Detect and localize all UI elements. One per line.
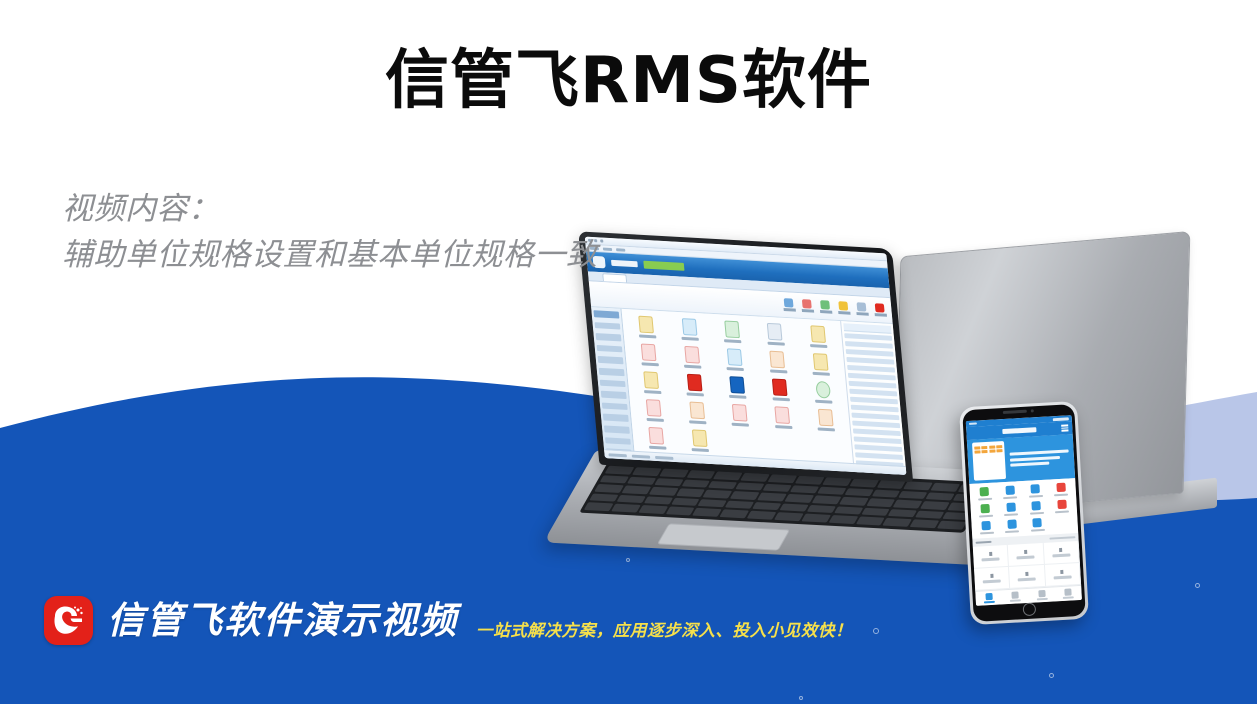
phone-camera-icon bbox=[1031, 409, 1034, 412]
mobile-app-screen bbox=[966, 415, 1082, 606]
module-tile[interactable] bbox=[714, 348, 755, 372]
desktop-app-screen bbox=[585, 237, 907, 475]
sidebar-item[interactable] bbox=[604, 426, 630, 434]
stat-cell bbox=[1043, 541, 1080, 565]
sidebar-item[interactable] bbox=[596, 333, 622, 341]
video-description: 视频内容： 辅助单位规格设置和基本单位规格一致 bbox=[62, 186, 598, 278]
phone-earpiece bbox=[1003, 409, 1034, 414]
quick-panel-item[interactable] bbox=[851, 413, 899, 421]
module-tile[interactable] bbox=[672, 345, 713, 369]
phone-signal-battery-icons bbox=[1053, 417, 1069, 421]
menu-item[interactable] bbox=[616, 248, 625, 251]
mobile-tile[interactable] bbox=[998, 485, 1022, 499]
sidebar-item[interactable] bbox=[594, 322, 620, 330]
phone-carrier-label bbox=[969, 422, 977, 425]
xinguanfei-logo-icon bbox=[44, 596, 93, 645]
quick-panel-item[interactable] bbox=[854, 444, 902, 452]
video-description-line-2: 辅助单位规格设置和基本单位规格一致 bbox=[62, 232, 598, 278]
titlebar-dot bbox=[600, 239, 603, 242]
toolbar-button[interactable] bbox=[783, 298, 795, 312]
decor-bubble bbox=[873, 628, 879, 634]
quick-panel-item[interactable] bbox=[852, 421, 900, 429]
module-tile[interactable] bbox=[626, 315, 667, 339]
app-icon-workspace bbox=[622, 309, 854, 472]
mobile-tile[interactable] bbox=[1050, 499, 1074, 513]
mobile-app-title bbox=[1002, 427, 1036, 434]
toolbar-button[interactable] bbox=[837, 301, 849, 315]
module-tile[interactable] bbox=[629, 343, 670, 367]
sidebar-item[interactable] bbox=[599, 368, 625, 376]
module-tile[interactable] bbox=[631, 371, 672, 395]
stat-cell bbox=[1045, 563, 1082, 587]
toolbar-button[interactable] bbox=[855, 302, 867, 316]
phone-home-button[interactable] bbox=[1023, 602, 1037, 616]
toolbar-button[interactable] bbox=[819, 300, 831, 314]
statusbar-segment bbox=[632, 454, 650, 458]
quick-panel-item[interactable] bbox=[849, 381, 897, 389]
module-tile[interactable] bbox=[712, 320, 753, 344]
module-tile[interactable] bbox=[677, 401, 718, 425]
module-tile[interactable] bbox=[674, 373, 715, 397]
banner-text bbox=[1010, 449, 1070, 466]
laptop-trackpad bbox=[657, 523, 790, 550]
app-body bbox=[591, 307, 906, 475]
mobile-tile[interactable] bbox=[1049, 482, 1073, 496]
quick-panel-item[interactable] bbox=[855, 452, 903, 460]
module-tile[interactable] bbox=[762, 406, 803, 430]
module-tile[interactable] bbox=[679, 429, 720, 453]
quick-panel-item[interactable] bbox=[848, 373, 896, 381]
decor-bubble bbox=[799, 696, 803, 700]
stat-cell bbox=[973, 545, 1010, 569]
mobile-tile[interactable] bbox=[1025, 518, 1049, 532]
module-tile[interactable] bbox=[760, 378, 801, 402]
quick-panel-item[interactable] bbox=[845, 341, 893, 349]
app-name-label bbox=[611, 260, 638, 267]
module-tile[interactable] bbox=[755, 322, 796, 346]
sidebar-item[interactable] bbox=[605, 437, 631, 445]
toolbar-button[interactable] bbox=[874, 303, 886, 317]
statusbar-segment bbox=[608, 453, 626, 457]
section-filter-tabs[interactable] bbox=[1049, 536, 1075, 540]
mobile-tile[interactable] bbox=[999, 502, 1023, 516]
quick-panel-item[interactable] bbox=[846, 349, 894, 357]
app-edition-badge bbox=[643, 261, 684, 271]
module-tile[interactable] bbox=[757, 350, 798, 374]
module-tile[interactable] bbox=[636, 426, 677, 450]
mobile-tile[interactable] bbox=[1023, 484, 1047, 498]
module-tile[interactable] bbox=[803, 380, 844, 404]
nav-item-home[interactable] bbox=[975, 590, 1002, 605]
mobile-tile-placeholder bbox=[1051, 516, 1075, 530]
slide-canvas: 信管飞RMS软件 视频内容： 辅助单位规格设置和基本单位规格一致 信管飞软件演示… bbox=[0, 0, 1257, 704]
quick-panel-header bbox=[843, 323, 891, 334]
mobile-tile[interactable] bbox=[1000, 519, 1024, 533]
quick-panel-item[interactable] bbox=[851, 405, 899, 413]
page-title: 信管飞RMS软件 bbox=[0, 46, 1257, 118]
module-tile[interactable] bbox=[669, 317, 710, 341]
quick-panel-item[interactable] bbox=[846, 357, 894, 365]
hamburger-menu-icon[interactable] bbox=[1061, 425, 1068, 432]
module-icon-grid[interactable] bbox=[626, 315, 849, 460]
quick-panel-item[interactable] bbox=[847, 365, 895, 373]
brand-bar: 信管飞软件演示视频 一站式解决方案，应用逐步深入、投入小见效快！ bbox=[44, 596, 852, 645]
module-tile[interactable] bbox=[719, 403, 760, 427]
video-description-line-1: 视频内容： bbox=[62, 186, 598, 232]
stat-cell bbox=[1008, 543, 1045, 567]
sidebar-item[interactable] bbox=[598, 356, 624, 364]
mobile-tile[interactable] bbox=[973, 503, 997, 517]
nav-item-reports[interactable] bbox=[1028, 587, 1055, 602]
decor-bubble bbox=[1049, 673, 1054, 678]
module-tile[interactable] bbox=[805, 408, 846, 432]
quick-panel-item[interactable] bbox=[844, 333, 892, 341]
banner-phone-illustration bbox=[972, 441, 1006, 481]
module-tile[interactable] bbox=[634, 398, 675, 422]
laptop-lid bbox=[578, 231, 913, 482]
smartphone bbox=[959, 401, 1089, 625]
nav-item-documents[interactable] bbox=[1002, 589, 1029, 604]
sidebar-item[interactable] bbox=[600, 379, 626, 387]
brand-name: 信管飞软件演示视频 bbox=[107, 598, 458, 644]
stat-cell bbox=[1009, 565, 1046, 589]
nav-item-profile[interactable] bbox=[1055, 586, 1082, 601]
brand-tagline: 一站式解决方案，应用逐步深入、投入小见效快！ bbox=[476, 617, 852, 645]
menu-item[interactable] bbox=[603, 247, 612, 250]
stat-cell bbox=[974, 567, 1011, 591]
sidebar-item[interactable] bbox=[601, 391, 627, 399]
module-tile[interactable] bbox=[798, 325, 839, 349]
quick-panel-item[interactable] bbox=[850, 397, 898, 405]
mobile-tile[interactable] bbox=[1024, 501, 1048, 515]
quick-panel-item[interactable] bbox=[854, 436, 902, 444]
module-tile[interactable] bbox=[800, 352, 841, 376]
app-tab[interactable] bbox=[602, 273, 627, 282]
sidebar-item[interactable] bbox=[602, 402, 628, 410]
device-mockup-group bbox=[565, 228, 1257, 628]
phone-body bbox=[962, 404, 1086, 622]
mobile-icon-grid[interactable] bbox=[969, 478, 1078, 539]
mobile-stats-grid bbox=[973, 541, 1081, 591]
mobile-promo-banner[interactable] bbox=[967, 434, 1075, 484]
phone-speaker bbox=[1003, 410, 1027, 414]
statusbar-segment bbox=[655, 455, 673, 459]
mobile-tile[interactable] bbox=[973, 487, 997, 501]
quick-panel-item[interactable] bbox=[853, 428, 901, 436]
sidebar-item[interactable] bbox=[597, 345, 623, 353]
sidebar-item[interactable] bbox=[603, 414, 629, 422]
quick-panel-item[interactable] bbox=[849, 389, 897, 397]
mobile-tile[interactable] bbox=[974, 520, 998, 534]
sidebar-item[interactable] bbox=[593, 310, 619, 318]
section-title-label bbox=[976, 541, 992, 544]
module-tile[interactable] bbox=[717, 375, 758, 399]
toolbar-button[interactable] bbox=[801, 299, 813, 313]
